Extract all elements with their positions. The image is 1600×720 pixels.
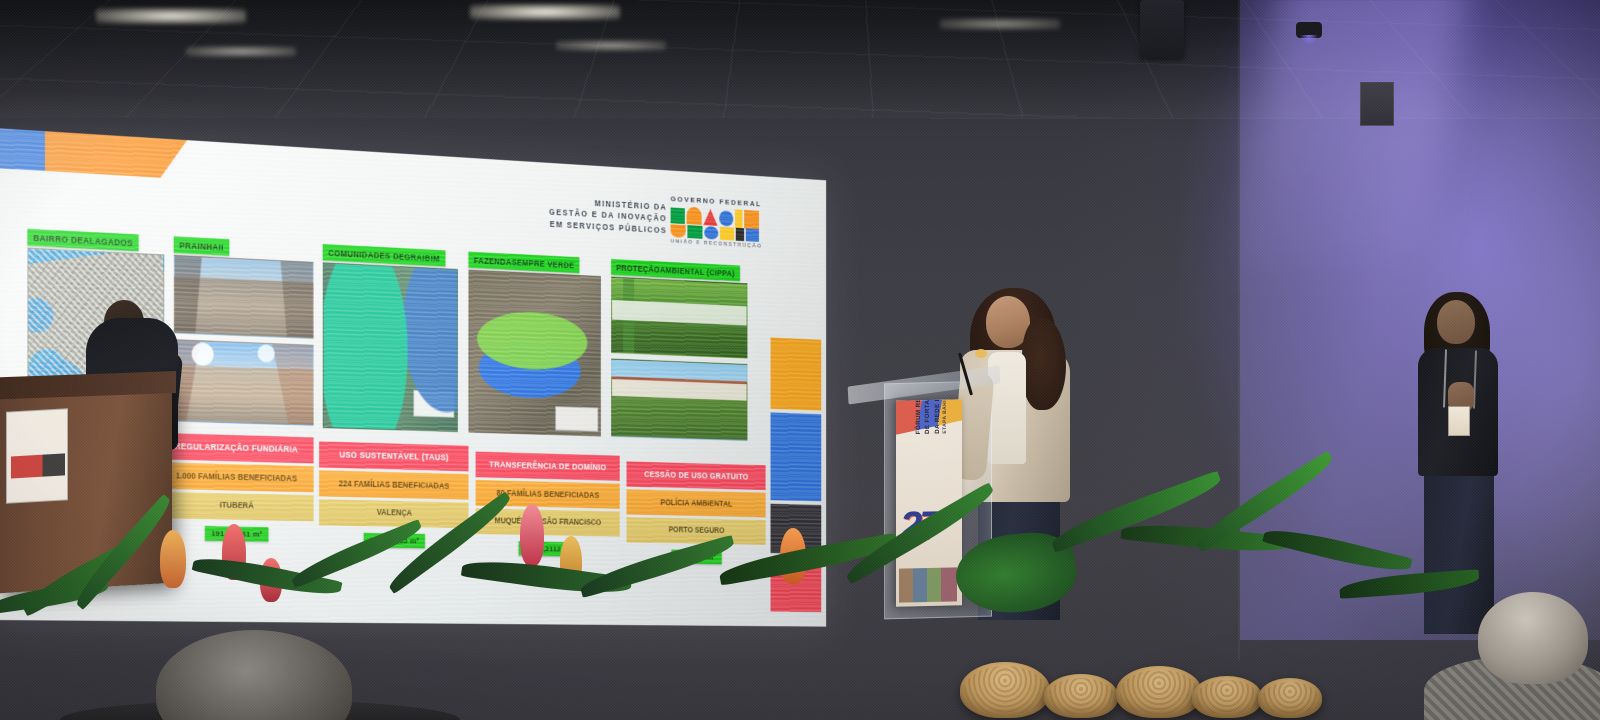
woven-basket xyxy=(1258,678,1322,718)
leaf-blade xyxy=(1262,522,1412,578)
woven-basket xyxy=(1192,676,1262,718)
interpreter-badge xyxy=(1448,406,1470,436)
woven-basket xyxy=(960,662,1050,718)
brasil-glyph-b2 xyxy=(671,224,686,238)
banner-line-3: DA REDE DE PARCERIAS xyxy=(933,399,942,434)
caption-bold: AMBIENTAL (CIPPA) xyxy=(660,265,735,278)
photo-satellite-graibim xyxy=(323,262,458,432)
speaker-hair-side xyxy=(1022,318,1066,410)
brasil-glyph-i xyxy=(735,209,742,228)
stage-scene: MINISTÉRIO DA GESTÃO E DA INOVAÇÃO EM SE… xyxy=(0,0,1600,720)
caption-bold: SEMPRE VERDE xyxy=(512,257,575,270)
brasil-glyph-b xyxy=(671,208,685,225)
brasil-glyph-s xyxy=(719,210,733,226)
brasil-glyph-i2 xyxy=(736,228,744,241)
banner-line-2: DE FORTALECIMENTO xyxy=(923,399,932,434)
brasil-glyph-r xyxy=(687,207,702,225)
brasil-glyph-l xyxy=(744,210,759,229)
brasil-glyph-a2 xyxy=(704,226,718,240)
map-legend-box xyxy=(413,390,454,418)
caption-plain: PROTEÇÃO xyxy=(616,262,660,274)
brasil-glyph-a xyxy=(703,208,717,225)
woven-basket-row xyxy=(940,622,1360,718)
map-legend-box xyxy=(555,406,598,432)
cell-program: USO SUSTENTÁVEL (TAUS) xyxy=(319,441,468,471)
photo-cippa-bottom xyxy=(611,359,747,441)
bromeliad-flower xyxy=(520,504,544,566)
photo-street-bottom xyxy=(174,339,314,426)
caption-bold: ALAGADOS xyxy=(83,235,133,247)
banner-title-vertical: FÓRUM REGIONAL DE FORTALECIMENTO DA REDE… xyxy=(914,399,949,434)
caption-bold: II xyxy=(219,242,224,252)
ceiling-speaker-box xyxy=(1140,0,1184,58)
audience-head-right xyxy=(1478,592,1588,684)
bromeliad-flower xyxy=(160,530,186,588)
woven-basket xyxy=(1044,674,1118,718)
interpreter-trousers xyxy=(1424,468,1494,634)
brasil-wordmark xyxy=(671,206,763,242)
photo-cippa-top xyxy=(611,277,747,359)
panel-caption-prainha: PRAINHA II xyxy=(174,236,230,255)
caption-plain: COMUNIDADES DE xyxy=(328,248,404,261)
ceiling-light-4 xyxy=(556,40,666,51)
banner-line-1: FÓRUM REGIONAL xyxy=(914,399,923,434)
brasil-glyph-l2 xyxy=(746,228,759,242)
caption-plain: FAZENDA xyxy=(474,255,512,266)
ceiling-light-3 xyxy=(186,46,296,57)
caption-bold: GRAIBIM xyxy=(404,252,439,263)
microphone-icon xyxy=(975,349,987,358)
stage-light-fixture xyxy=(1296,22,1322,38)
woven-basket xyxy=(1116,666,1202,718)
interpreter-head xyxy=(1437,300,1475,344)
photo-satellite-sempre-verde xyxy=(469,270,601,437)
ceiling-light-2 xyxy=(470,4,620,20)
photo-street-top xyxy=(174,255,314,339)
ceiling-light-1 xyxy=(96,8,246,24)
wall-vent xyxy=(1360,82,1394,126)
brasil-glyph-s2 xyxy=(720,227,734,241)
caption-plain: BAIRRO DE xyxy=(33,233,83,245)
leaf-blade xyxy=(578,535,737,598)
brasil-glyph-r2 xyxy=(687,225,702,239)
cell-program: REGULARIZAÇÃO FUNDIÁRIA xyxy=(159,433,314,464)
banner-line-4: ETAPA BAHIA xyxy=(942,399,950,433)
ministry-logo-text: MINISTÉRIO DA GESTÃO E DA INOVAÇÃO EM SE… xyxy=(549,195,667,236)
caption-plain: PRAINHA xyxy=(179,240,218,252)
